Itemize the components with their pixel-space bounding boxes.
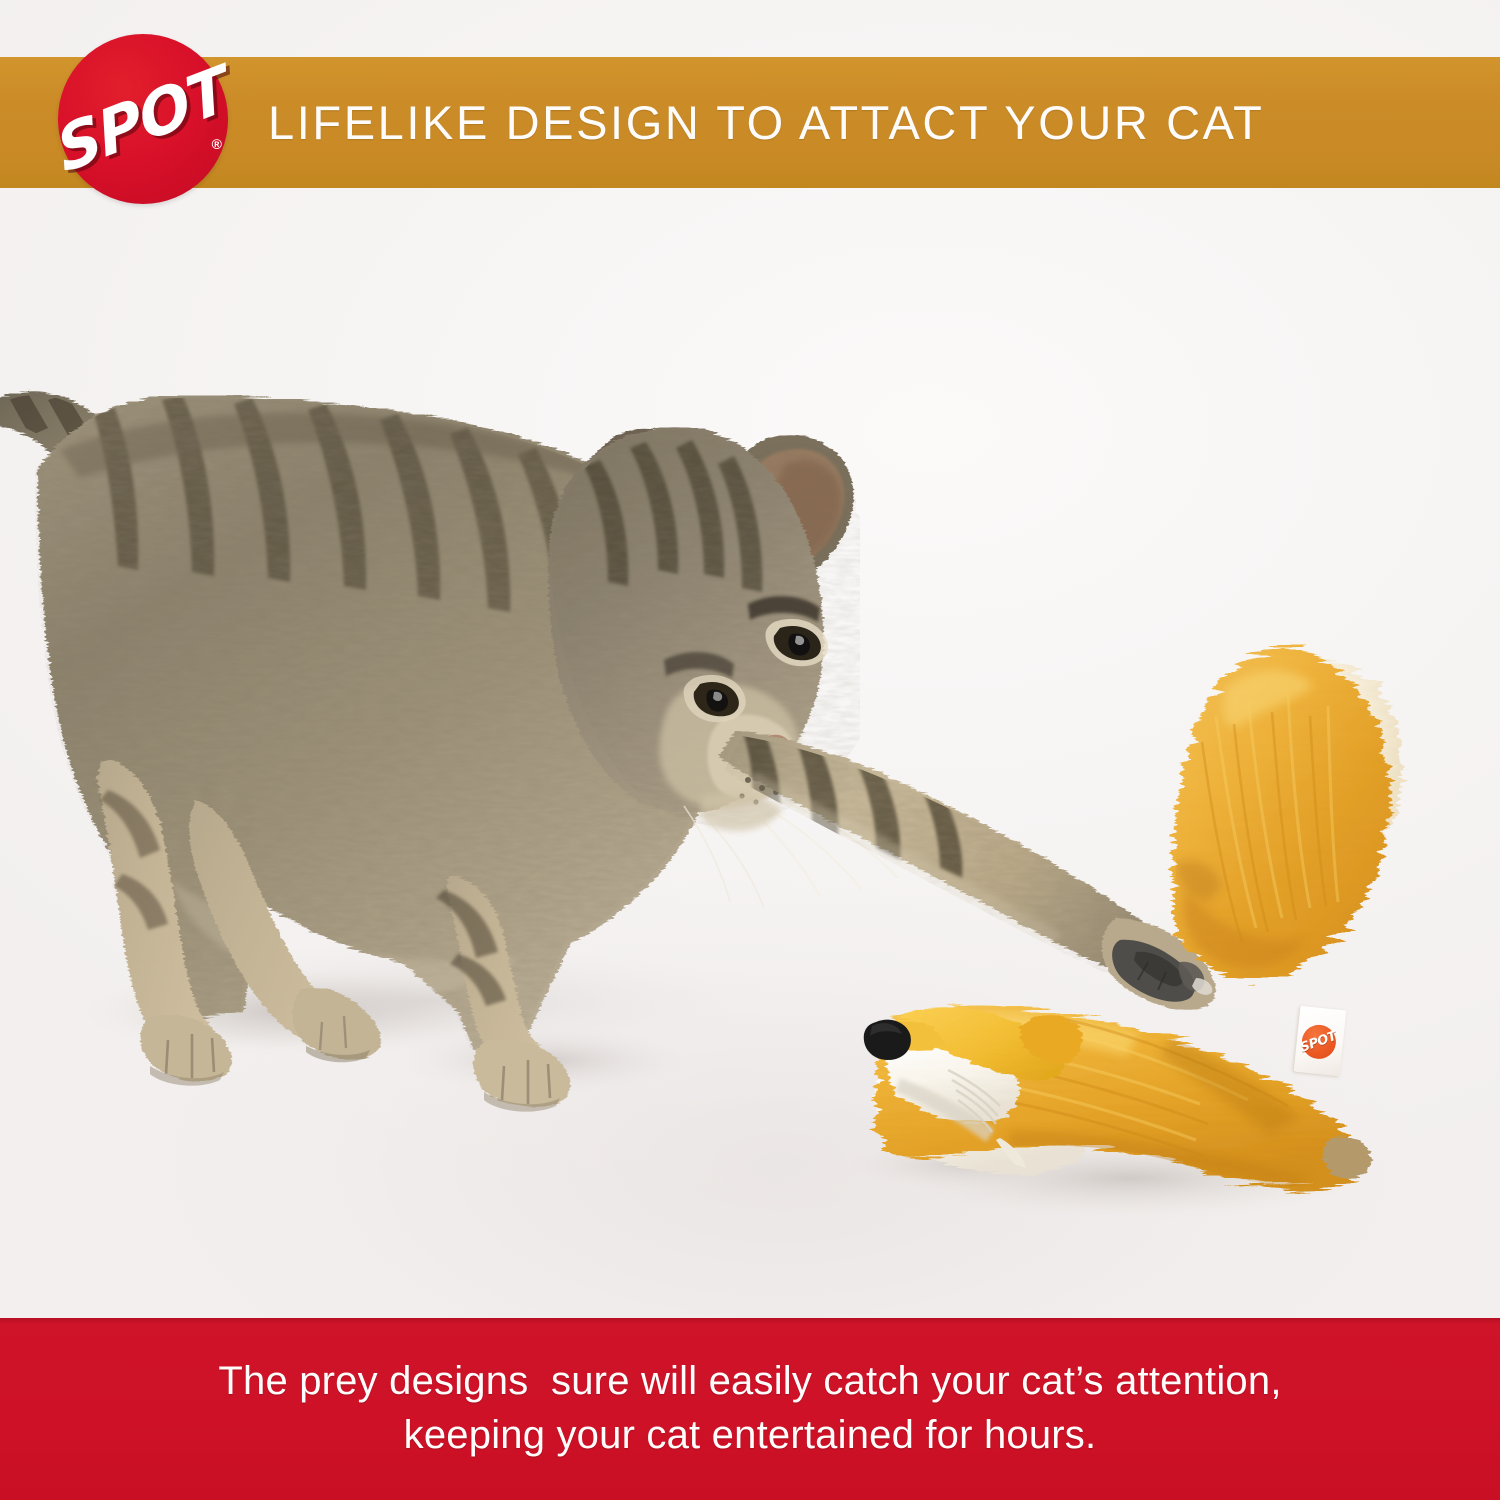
footer-line-2: keeping your cat entertained for hours.: [404, 1409, 1097, 1463]
spot-brand-tag: SPOT: [1294, 1006, 1347, 1076]
spot-logo: SPOT ®: [58, 34, 228, 204]
plush-fox-toy: [0, 0, 1500, 1500]
footer-banner: The prey designs sure will easily catch …: [0, 1318, 1500, 1500]
spot-logo-wordmark: SPOT: [58, 34, 228, 204]
product-image-canvas: SPOT LIFELIKE DESIGN TO ATTACT YOUR CAT …: [0, 0, 1500, 1500]
fox-tail: [1173, 649, 1402, 980]
spot-logo-text: SPOT: [51, 51, 236, 187]
page-title: LIFELIKE DESIGN TO ATTACT YOUR CAT: [268, 57, 1264, 188]
tag-wordmark-text: SPOT: [1299, 1028, 1339, 1055]
tag-wordmark: SPOT: [1294, 1006, 1345, 1076]
footer-line-1: The prey designs sure will easily catch …: [218, 1355, 1281, 1409]
registered-trademark-icon: ®: [212, 136, 222, 152]
